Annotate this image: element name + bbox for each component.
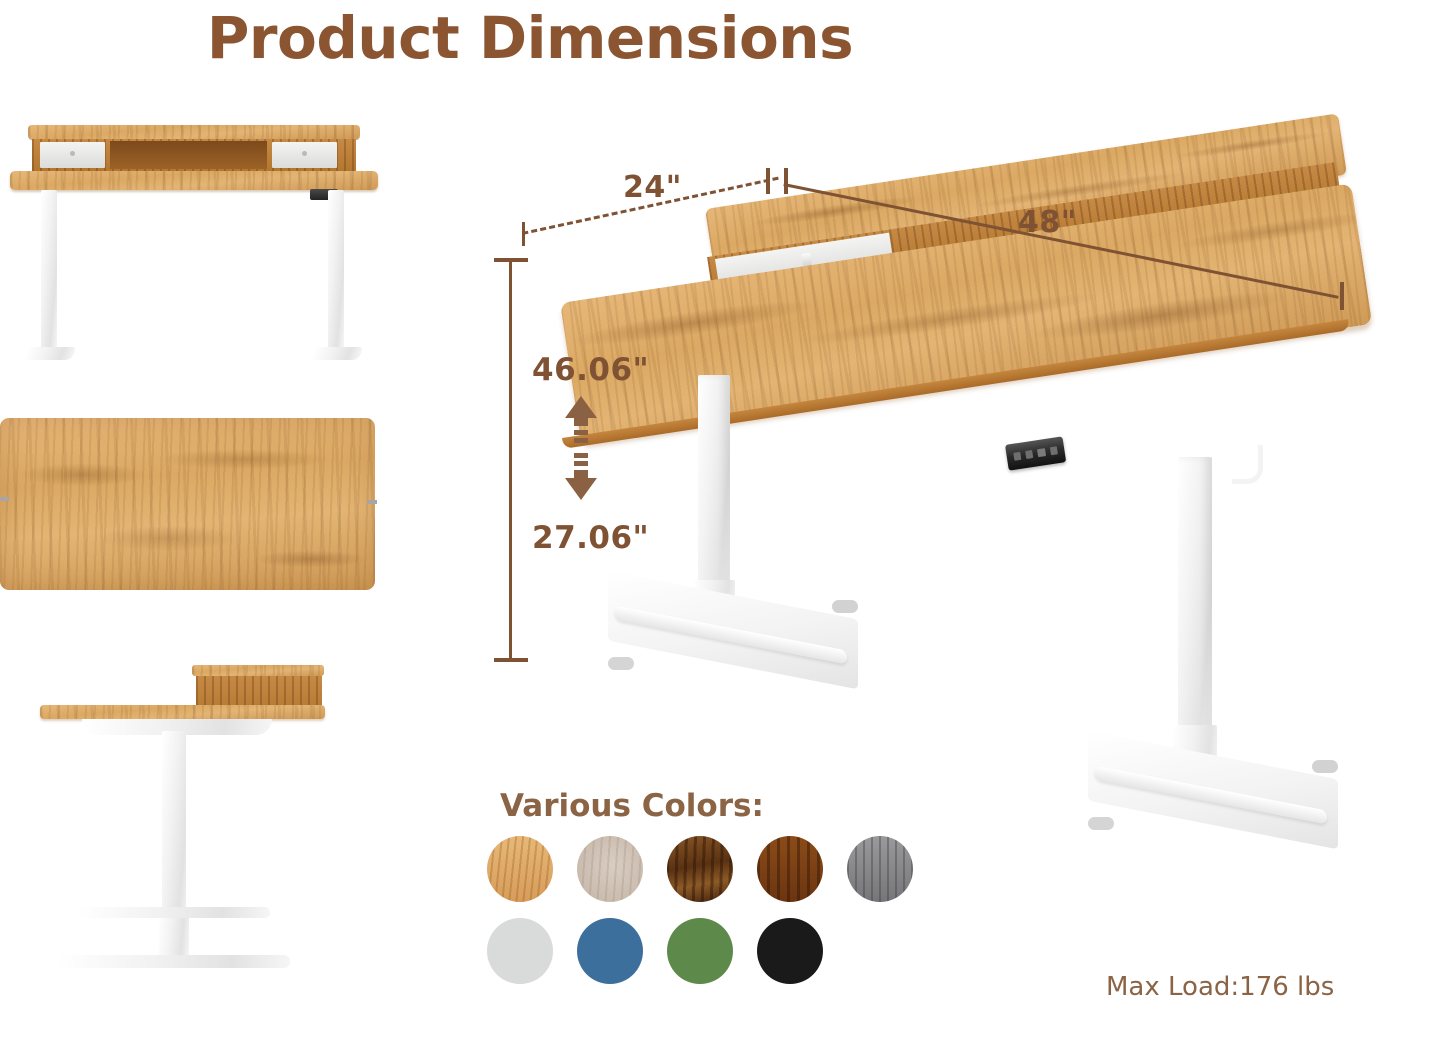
color-swatch-row-wood: [487, 836, 877, 902]
depth-tick-right: [766, 168, 770, 194]
side-view-desk: [40, 655, 330, 1005]
height-max-label: 46.06": [532, 352, 649, 388]
width-dimension-label: 48": [1018, 205, 1077, 240]
control-panel-display: [1037, 448, 1046, 457]
color-swatch-grey-wood[interactable]: [847, 836, 913, 902]
main-foot-right-glide-far: [1312, 760, 1338, 773]
front-desktop: [10, 171, 378, 190]
top-view-bracket-left: [0, 497, 9, 501]
depth-dimension-label: 24": [623, 170, 682, 205]
main-leg-left-upper: [698, 375, 730, 605]
front-hutch-top: [28, 125, 360, 139]
height-dimension-cap-bottom: [494, 658, 528, 662]
main-control-panel[interactable]: [1005, 436, 1066, 470]
side-foot-front: [58, 955, 290, 968]
front-foot-right: [311, 347, 363, 360]
front-drawer-left-knob: [70, 151, 75, 156]
front-leg-left: [41, 190, 57, 350]
side-foot-rear: [80, 907, 270, 918]
front-drawer-right: [272, 142, 337, 168]
side-hutch-top: [192, 665, 324, 676]
width-dimension-line: [784, 175, 1344, 305]
front-drawer-left: [40, 142, 105, 168]
color-swatch-black[interactable]: [757, 918, 823, 984]
main-foot-left-glide-far: [832, 600, 858, 613]
height-min-label: 27.06": [532, 520, 649, 556]
various-colors-title: Various Colors:: [500, 788, 764, 824]
height-dimension-cap-top: [494, 258, 528, 262]
front-leg-right: [328, 190, 344, 350]
main-leg-right-upper: [1178, 457, 1212, 757]
control-panel-button-up[interactable]: [1013, 452, 1021, 461]
color-swatch-natural-wood[interactable]: [487, 836, 553, 902]
front-hutch-shelf-opening: [110, 141, 267, 169]
infographic-canvas: Product Dimensions: [0, 0, 1435, 1045]
control-panel-button-preset[interactable]: [1050, 446, 1058, 455]
depth-tick-left: [522, 222, 525, 246]
color-swatch-grid: [487, 836, 877, 1000]
main-foot-right-glide-near: [1088, 817, 1114, 830]
headphone-hook-icon: [1232, 445, 1263, 484]
color-swatch-dark-walnut-wood[interactable]: [757, 836, 823, 902]
height-arrow-up-icon: [563, 396, 599, 444]
side-desktop: [40, 705, 325, 719]
front-drawer-right-knob: [302, 151, 307, 156]
height-dimension-line: [509, 258, 512, 662]
top-view-grain-overlay: [0, 418, 375, 590]
color-swatch-green[interactable]: [667, 918, 733, 984]
top-view-bracket-right: [367, 500, 377, 504]
height-arrow-down-icon: [563, 452, 599, 500]
front-foot-left: [24, 347, 76, 360]
width-tick-left: [784, 168, 788, 194]
color-swatch-white[interactable]: [487, 918, 553, 984]
front-view-desk: [10, 125, 380, 385]
color-swatch-light-oak-wood[interactable]: [577, 836, 643, 902]
color-swatch-rustic-brown-wood[interactable]: [667, 836, 733, 902]
color-swatch-row-solid: [487, 918, 877, 984]
width-tick-right: [1340, 282, 1344, 310]
control-panel-button-down[interactable]: [1025, 450, 1033, 459]
max-load-label: Max Load:176 lbs: [1106, 972, 1334, 1002]
page-title: Product Dimensions: [0, 4, 1060, 72]
color-swatch-blue[interactable]: [577, 918, 643, 984]
main-foot-left-glide-near: [608, 657, 634, 670]
